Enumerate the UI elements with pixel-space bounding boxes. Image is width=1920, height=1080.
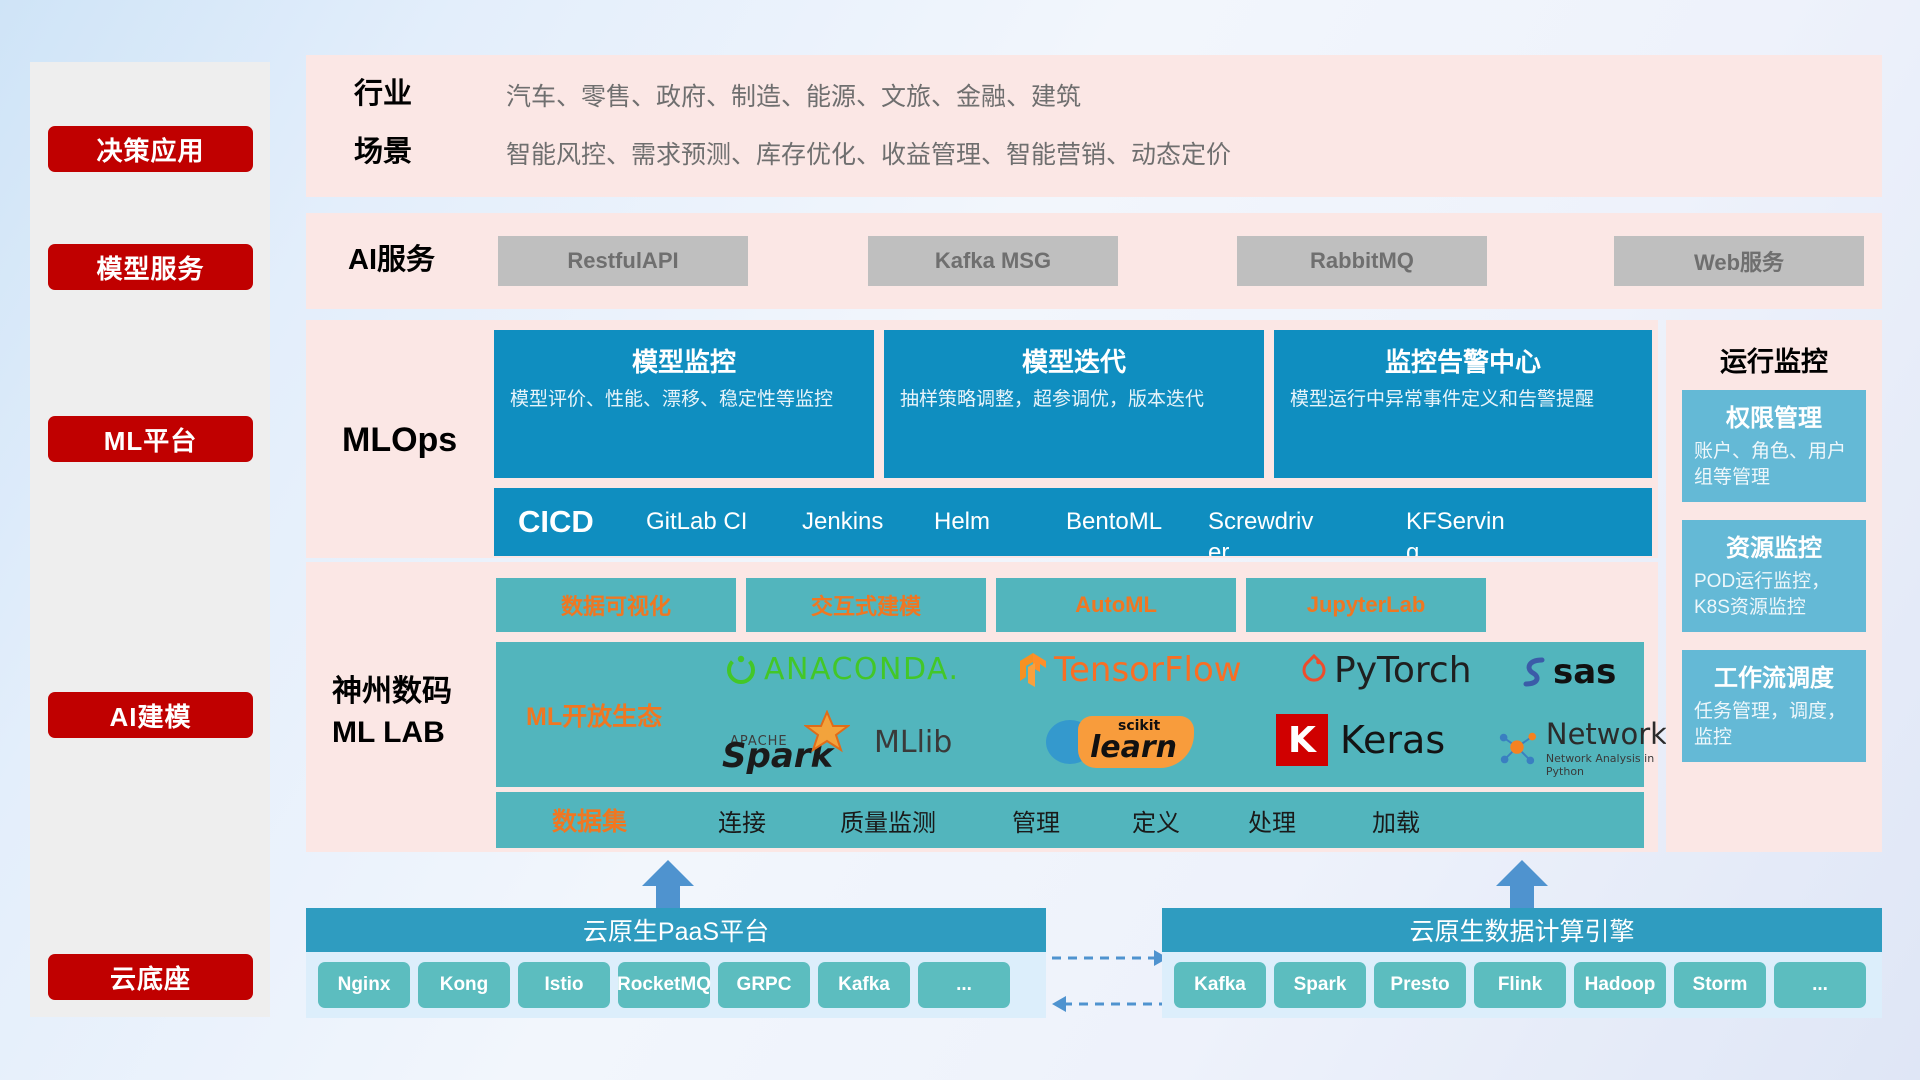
cloud-chip-kafka[interactable]: Kafka bbox=[818, 962, 910, 1008]
ml-tab-label: 数据可视化 bbox=[561, 589, 671, 621]
ml-tab-data-visualization[interactable]: 数据可视化 bbox=[496, 578, 736, 632]
tensorflow-wordmark: TensorFlow bbox=[1054, 650, 1242, 690]
service-chip-label: RabbitMQ bbox=[1310, 248, 1414, 274]
tensorflow-logo: TensorFlow bbox=[1016, 650, 1242, 690]
cloud-chip-label: Flink bbox=[1498, 974, 1542, 996]
monitoring-column-panel: 运行监控 权限管理 账户、角色、用户组等管理 资源监控 POD运行监控，K8S资… bbox=[1666, 320, 1882, 852]
cloud-chip-more[interactable]: ... bbox=[918, 962, 1010, 1008]
ml-lab-label-line1: 神州数码 bbox=[332, 672, 452, 713]
spark-star-icon bbox=[804, 710, 850, 754]
up-arrow-data-engine-icon bbox=[1494, 860, 1550, 912]
ai-service-label: AI服务 bbox=[348, 241, 435, 280]
cloud-chip-label: GRPC bbox=[737, 974, 792, 996]
cicd-item-screwdriver[interactable]: Screwdriver bbox=[1208, 506, 1318, 556]
keras-wordmark: Keras bbox=[1340, 718, 1445, 762]
service-chip-restfulapi[interactable]: RestfulAPI bbox=[498, 236, 748, 286]
cloud-block-paas: 云原生PaaS平台 Nginx Kong Istio RocketMQ GRPC… bbox=[306, 908, 1046, 1018]
scikit-orange-blob: scikit learn bbox=[1078, 716, 1194, 768]
dataset-item-connect[interactable]: 连接 bbox=[718, 803, 766, 838]
architecture-diagram: 决策应用 模型服务 ML平台 AI建模 云底座 行业 汽车、零售、政府、制造、能… bbox=[0, 0, 1920, 1080]
ml-tab-label: 交互式建模 bbox=[811, 589, 921, 621]
mlops-card-desc: 抽样策略调整，超参调优，版本迭代 bbox=[900, 387, 1248, 413]
mlops-card-alert-center[interactable]: 监控告警中心 模型运行中异常事件定义和告警提醒 bbox=[1274, 330, 1652, 478]
mlops-card-title: 模型监控 bbox=[510, 342, 858, 379]
stage-chip-ml-platform[interactable]: ML平台 bbox=[48, 416, 253, 462]
cloud-chip-hadoop[interactable]: Hadoop bbox=[1574, 962, 1666, 1008]
monitoring-card-desc: 任务管理，调度，监控 bbox=[1694, 699, 1854, 750]
industry-row-value: 汽车、零售、政府、制造、能源、文旅、金融、建筑 bbox=[506, 77, 1081, 113]
ml-lab-layer-panel: 神州数码 ML LAB 数据可视化 交互式建模 AutoML JupyterLa… bbox=[306, 562, 1658, 852]
cloud-chip-flink[interactable]: Flink bbox=[1474, 962, 1566, 1008]
sas-mark-icon bbox=[1518, 655, 1552, 689]
cloud-chip-label: Storm bbox=[1693, 974, 1748, 996]
dataset-item-definition[interactable]: 定义 bbox=[1132, 803, 1180, 838]
mlops-layer-panel: MLOps 模型监控 模型评价、性能、漂移、稳定性等监控 模型迭代 抽样策略调整… bbox=[306, 320, 1658, 558]
bidirectional-connector-arrows bbox=[1050, 940, 1170, 1020]
cicd-item-bentoml[interactable]: BentoML bbox=[1066, 506, 1176, 537]
monitoring-card-resource[interactable]: 资源监控 POD运行监控，K8S资源监控 bbox=[1682, 520, 1866, 632]
dataset-band: 数据集 连接 质量监测 管理 定义 处理 加载 bbox=[496, 792, 1644, 848]
cloud-chip-presto[interactable]: Presto bbox=[1374, 962, 1466, 1008]
cloud-block-data-engine: 云原生数据计算引擎 Kafka Spark Presto Flink Hadoo… bbox=[1162, 908, 1882, 1018]
industry-row-label: 行业 bbox=[354, 75, 412, 114]
ml-tab-label: AutoML bbox=[1075, 592, 1157, 618]
mlops-card-title: 监控告警中心 bbox=[1290, 342, 1636, 379]
monitoring-card-title: 权限管理 bbox=[1694, 398, 1854, 433]
service-chip-label: Kafka MSG bbox=[935, 248, 1051, 274]
service-chip-kafka-msg[interactable]: Kafka MSG bbox=[868, 236, 1118, 286]
stage-chip-model-service[interactable]: 模型服务 bbox=[48, 244, 253, 290]
cicd-item-label: BentoML bbox=[1066, 508, 1162, 535]
spark-mllib-logo: APACHE Spark MLlib bbox=[718, 714, 952, 770]
cicd-item-label: Jenkins bbox=[802, 508, 883, 535]
keras-logo: K Keras bbox=[1276, 714, 1445, 766]
dataset-item-quality[interactable]: 质量监测 bbox=[840, 803, 936, 838]
cloud-chip-label: Kafka bbox=[1194, 974, 1246, 996]
mlops-card-model-iteration[interactable]: 模型迭代 抽样策略调整，超参调优，版本迭代 bbox=[884, 330, 1264, 478]
cloud-chip-label: Istio bbox=[544, 974, 583, 996]
cloud-chip-label: RocketMQ bbox=[617, 974, 711, 996]
cloud-chip-label: Hadoop bbox=[1585, 974, 1656, 996]
cloud-data-engine-title: 云原生数据计算引擎 bbox=[1409, 912, 1634, 948]
mlops-label: MLOps bbox=[342, 418, 457, 464]
cloud-chip-grpc[interactable]: GRPC bbox=[718, 962, 810, 1008]
cloud-chip-storm[interactable]: Storm bbox=[1674, 962, 1766, 1008]
monitoring-card-title: 资源监控 bbox=[1694, 528, 1854, 563]
networkx-mark-icon bbox=[1496, 727, 1540, 771]
cloud-paas-body: Nginx Kong Istio RocketMQ GRPC Kafka ... bbox=[306, 952, 1046, 1018]
cloud-chip-label: Presto bbox=[1390, 974, 1449, 996]
cicd-item-label: Helm bbox=[934, 508, 990, 535]
cicd-bar: CICD GitLab CI Jenkins Helm BentoML Scre… bbox=[494, 488, 1652, 556]
cicd-item-jenkins[interactable]: Jenkins bbox=[802, 506, 912, 537]
stage-label: ML平台 bbox=[104, 421, 198, 458]
cicd-item-kfserving[interactable]: KFServing bbox=[1406, 506, 1516, 556]
service-chip-web-service[interactable]: Web服务 bbox=[1614, 236, 1864, 286]
stage-rail: 决策应用 模型服务 ML平台 AI建模 云底座 bbox=[30, 62, 270, 1017]
service-chip-label: RestfulAPI bbox=[567, 248, 678, 274]
mlops-card-title: 模型迭代 bbox=[900, 342, 1248, 379]
anaconda-wordmark: ANACONDA. bbox=[764, 652, 960, 687]
cloud-chip-label: Nginx bbox=[338, 974, 391, 996]
cicd-item-label: GitLab CI bbox=[646, 508, 747, 535]
dataset-item-processing[interactable]: 处理 bbox=[1248, 803, 1296, 838]
networkx-logo: NetworkX Network Analysis in Python bbox=[1496, 720, 1689, 778]
cicd-item-gitlab-ci[interactable]: GitLab CI bbox=[646, 506, 756, 537]
ml-tab-automl[interactable]: AutoML bbox=[996, 578, 1236, 632]
ml-tab-interactive-modeling[interactable]: 交互式建模 bbox=[746, 578, 986, 632]
cloud-chip-label: ... bbox=[956, 974, 972, 996]
ml-tab-label: JupyterLab bbox=[1307, 592, 1426, 618]
cloud-chip-label: Kafka bbox=[838, 974, 890, 996]
scikit-learn-logo: scikit learn bbox=[1044, 716, 1194, 768]
pytorch-mark-icon bbox=[1300, 654, 1328, 688]
ml-lab-label: 神州数码 ML LAB bbox=[332, 672, 452, 753]
ml-lab-label-line2: ML LAB bbox=[332, 713, 452, 754]
sas-logo: sas bbox=[1518, 652, 1616, 692]
monitoring-column-title: 运行监控 bbox=[1666, 340, 1882, 379]
stage-label: 模型服务 bbox=[96, 249, 204, 286]
keras-mark-icon: K bbox=[1276, 714, 1328, 766]
ml-tab-jupyterlab[interactable]: JupyterLab bbox=[1246, 578, 1486, 632]
anaconda-logo: ANACONDA. bbox=[724, 652, 960, 687]
stage-chip-ai-modeling[interactable]: AI建模 bbox=[48, 692, 253, 738]
pytorch-wordmark: PyTorch bbox=[1334, 650, 1472, 691]
cicd-title: CICD bbox=[518, 504, 594, 540]
cloud-paas-title: 云原生PaaS平台 bbox=[583, 912, 769, 948]
cloud-chip-more-2[interactable]: ... bbox=[1774, 962, 1866, 1008]
up-arrow-paas-icon bbox=[640, 860, 696, 912]
monitoring-card-permission[interactable]: 权限管理 账户、角色、用户组等管理 bbox=[1682, 390, 1866, 502]
cloud-data-engine-header: 云原生数据计算引擎 bbox=[1162, 908, 1882, 952]
cicd-item-helm[interactable]: Helm bbox=[934, 506, 1044, 537]
stage-label: 决策应用 bbox=[96, 131, 204, 168]
sas-wordmark: sas bbox=[1553, 652, 1616, 692]
cloud-chip-label: ... bbox=[1812, 974, 1828, 996]
cicd-item-label: KFServing bbox=[1406, 508, 1505, 556]
dataset-label: 数据集 bbox=[552, 802, 627, 838]
cloud-chip-spark[interactable]: Spark bbox=[1274, 962, 1366, 1008]
dataset-item-management[interactable]: 管理 bbox=[1012, 803, 1060, 838]
cloud-chip-istio[interactable]: Istio bbox=[518, 962, 610, 1008]
cloud-chip-label: Spark bbox=[1294, 974, 1347, 996]
service-chip-label: Web服务 bbox=[1694, 245, 1784, 277]
ml-ecosystem-band: ML开放生态 ANACONDA. TensorFlow bbox=[496, 642, 1644, 787]
stage-label: AI建模 bbox=[109, 697, 191, 734]
scenario-row-label: 场景 bbox=[354, 133, 412, 172]
learn-text: learn bbox=[1090, 730, 1177, 765]
cicd-item-label: Screwdriver bbox=[1208, 508, 1313, 556]
cloud-chip-label: Kong bbox=[440, 974, 489, 996]
application-layer-panel: 行业 汽车、零售、政府、制造、能源、文旅、金融、建筑 场景 智能风控、需求预测、… bbox=[306, 55, 1882, 197]
stage-chip-cloud-foundation[interactable]: 云底座 bbox=[48, 954, 253, 1000]
stage-chip-decision-application[interactable]: 决策应用 bbox=[48, 126, 253, 172]
cloud-chip-nginx[interactable]: Nginx bbox=[318, 962, 410, 1008]
scenario-row-value: 智能风控、需求预测、库存优化、收益管理、智能营销、动态定价 bbox=[506, 135, 1231, 171]
dataset-item-loading[interactable]: 加载 bbox=[1372, 803, 1420, 838]
ml-ecosystem-label: ML开放生态 bbox=[526, 697, 662, 733]
cloud-data-engine-body: Kafka Spark Presto Flink Hadoop Storm ..… bbox=[1162, 952, 1882, 1018]
cloud-chip-kong[interactable]: Kong bbox=[418, 962, 510, 1008]
cloud-chip-kafka-2[interactable]: Kafka bbox=[1174, 962, 1266, 1008]
mllib-wordmark: MLlib bbox=[874, 725, 952, 760]
mlops-card-desc: 模型评价、性能、漂移、稳定性等监控 bbox=[510, 387, 858, 413]
ai-service-layer-panel: AI服务 RestfulAPI Kafka MSG RabbitMQ Web服务 bbox=[306, 213, 1882, 309]
service-chip-rabbitmq[interactable]: RabbitMQ bbox=[1237, 236, 1487, 286]
monitoring-card-title: 工作流调度 bbox=[1694, 658, 1854, 693]
keras-mark-letter: K bbox=[1288, 720, 1316, 761]
monitoring-card-desc: 账户、角色、用户组等管理 bbox=[1694, 439, 1854, 490]
cloud-chip-rocketmq[interactable]: RocketMQ bbox=[618, 962, 710, 1008]
cloud-paas-header: 云原生PaaS平台 bbox=[306, 908, 1046, 952]
mlops-card-desc: 模型运行中异常事件定义和告警提醒 bbox=[1290, 387, 1636, 413]
anaconda-mark-icon bbox=[724, 653, 758, 687]
monitoring-card-workflow[interactable]: 工作流调度 任务管理，调度，监控 bbox=[1682, 650, 1866, 762]
mlops-card-model-monitoring[interactable]: 模型监控 模型评价、性能、漂移、稳定性等监控 bbox=[494, 330, 874, 478]
stage-label: 云底座 bbox=[110, 959, 191, 996]
pytorch-logo: PyTorch bbox=[1300, 650, 1472, 691]
monitoring-card-desc: POD运行监控，K8S资源监控 bbox=[1694, 569, 1854, 620]
tensorflow-mark-icon bbox=[1016, 651, 1050, 689]
